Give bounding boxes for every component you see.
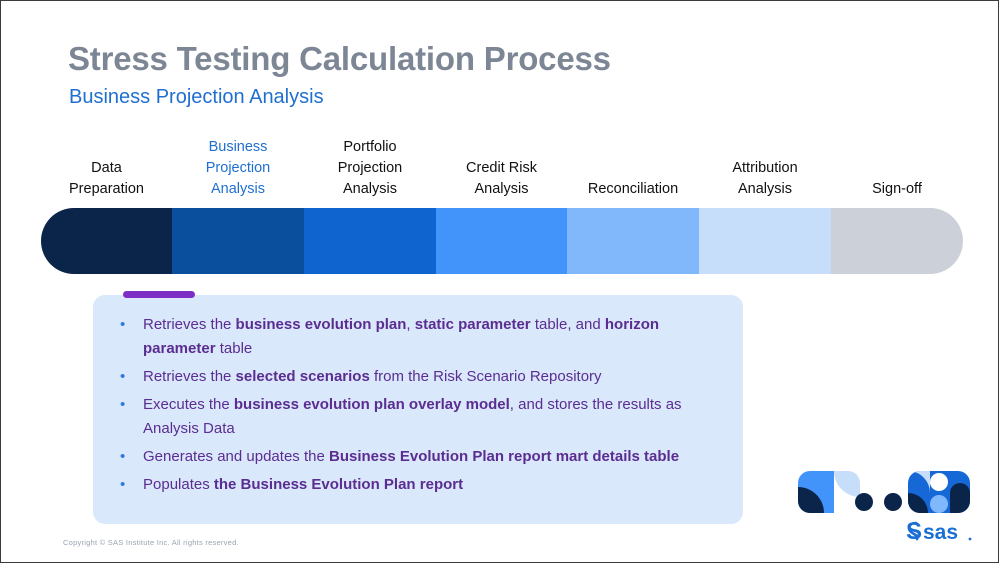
- stage-label-line: Analysis: [738, 179, 792, 200]
- stage-label-line: Analysis: [211, 179, 265, 200]
- stage-label-0[interactable]: DataPreparation: [41, 134, 172, 202]
- bullet-text: Executes the business evolution plan ove…: [143, 393, 713, 441]
- bullet-marker-icon: •: [113, 313, 143, 337]
- stage-label-line: Sign-off: [872, 179, 922, 200]
- bullet-text: Generates and updates the Business Evolu…: [143, 445, 713, 469]
- copyright-text: Copyright © SAS Institute Inc. All right…: [63, 538, 239, 547]
- bullet-text: Populates the Business Evolution Plan re…: [143, 473, 713, 497]
- bullet-item: •Generates and updates the Business Evol…: [113, 445, 713, 469]
- stage-label-line: Projection: [338, 158, 402, 179]
- progress-segment-4[interactable]: [567, 208, 699, 274]
- stage-label-line: Portfolio: [343, 137, 396, 158]
- progress-segment-1[interactable]: [172, 208, 304, 274]
- stage-label-line: Data: [91, 158, 122, 179]
- bullet-text: Retrieves the selected scenarios from th…: [143, 365, 713, 389]
- bullet-marker-icon: •: [113, 445, 143, 469]
- detail-bullet-list: •Retrieves the business evolution plan, …: [113, 313, 713, 501]
- progress-segment-5[interactable]: [699, 208, 831, 274]
- svg-text:sas: sas: [923, 521, 958, 544]
- stage-label-5[interactable]: AttributionAnalysis: [699, 134, 831, 202]
- process-progress-bar: [41, 208, 963, 274]
- stage-label-line: Analysis: [475, 179, 529, 200]
- bullet-item: •Populates the Business Evolution Plan r…: [113, 473, 713, 497]
- stage-label-line: Credit Risk: [466, 158, 537, 179]
- stage-label-6[interactable]: Sign-off: [831, 134, 963, 202]
- bullet-item: •Retrieves the business evolution plan, …: [113, 313, 713, 361]
- page-subtitle: Business Projection Analysis: [69, 86, 324, 109]
- progress-segment-3[interactable]: [436, 208, 567, 274]
- stage-label-line: Reconciliation: [588, 179, 678, 200]
- bullet-item: •Executes the business evolution plan ov…: [113, 393, 713, 441]
- process-stage-labels: DataPreparationBusinessProjectionAnalysi…: [41, 134, 963, 202]
- progress-segment-0[interactable]: [41, 208, 172, 274]
- stage-label-line: Projection: [206, 158, 270, 179]
- stage-label-line: Analysis: [343, 179, 397, 200]
- stage-label-line: Preparation: [69, 179, 144, 200]
- bullet-marker-icon: •: [113, 393, 143, 417]
- stage-label-3[interactable]: Credit RiskAnalysis: [436, 134, 567, 202]
- stage-label-2[interactable]: PortfolioProjectionAnalysis: [304, 134, 436, 202]
- stage-label-line: Business: [209, 137, 268, 158]
- bullet-text: Retrieves the business evolution plan, s…: [143, 313, 713, 361]
- decorative-shapes-graphic: [798, 471, 970, 513]
- page-title: Stress Testing Calculation Process: [68, 40, 611, 78]
- bullet-item: •Retrieves the selected scenarios from t…: [113, 365, 713, 389]
- stage-label-4[interactable]: Reconciliation: [567, 134, 699, 202]
- stage-label-line: Attribution: [732, 158, 797, 179]
- sas-logo: S sas: [906, 518, 974, 544]
- progress-segment-2[interactable]: [304, 208, 436, 274]
- stage-label-1[interactable]: BusinessProjectionAnalysis: [172, 134, 304, 202]
- progress-segment-6[interactable]: [831, 208, 963, 274]
- bullet-marker-icon: •: [113, 473, 143, 497]
- accent-bar: [123, 291, 195, 298]
- slide-canvas: Stress Testing Calculation Process Busin…: [0, 0, 999, 563]
- bullet-marker-icon: •: [113, 365, 143, 389]
